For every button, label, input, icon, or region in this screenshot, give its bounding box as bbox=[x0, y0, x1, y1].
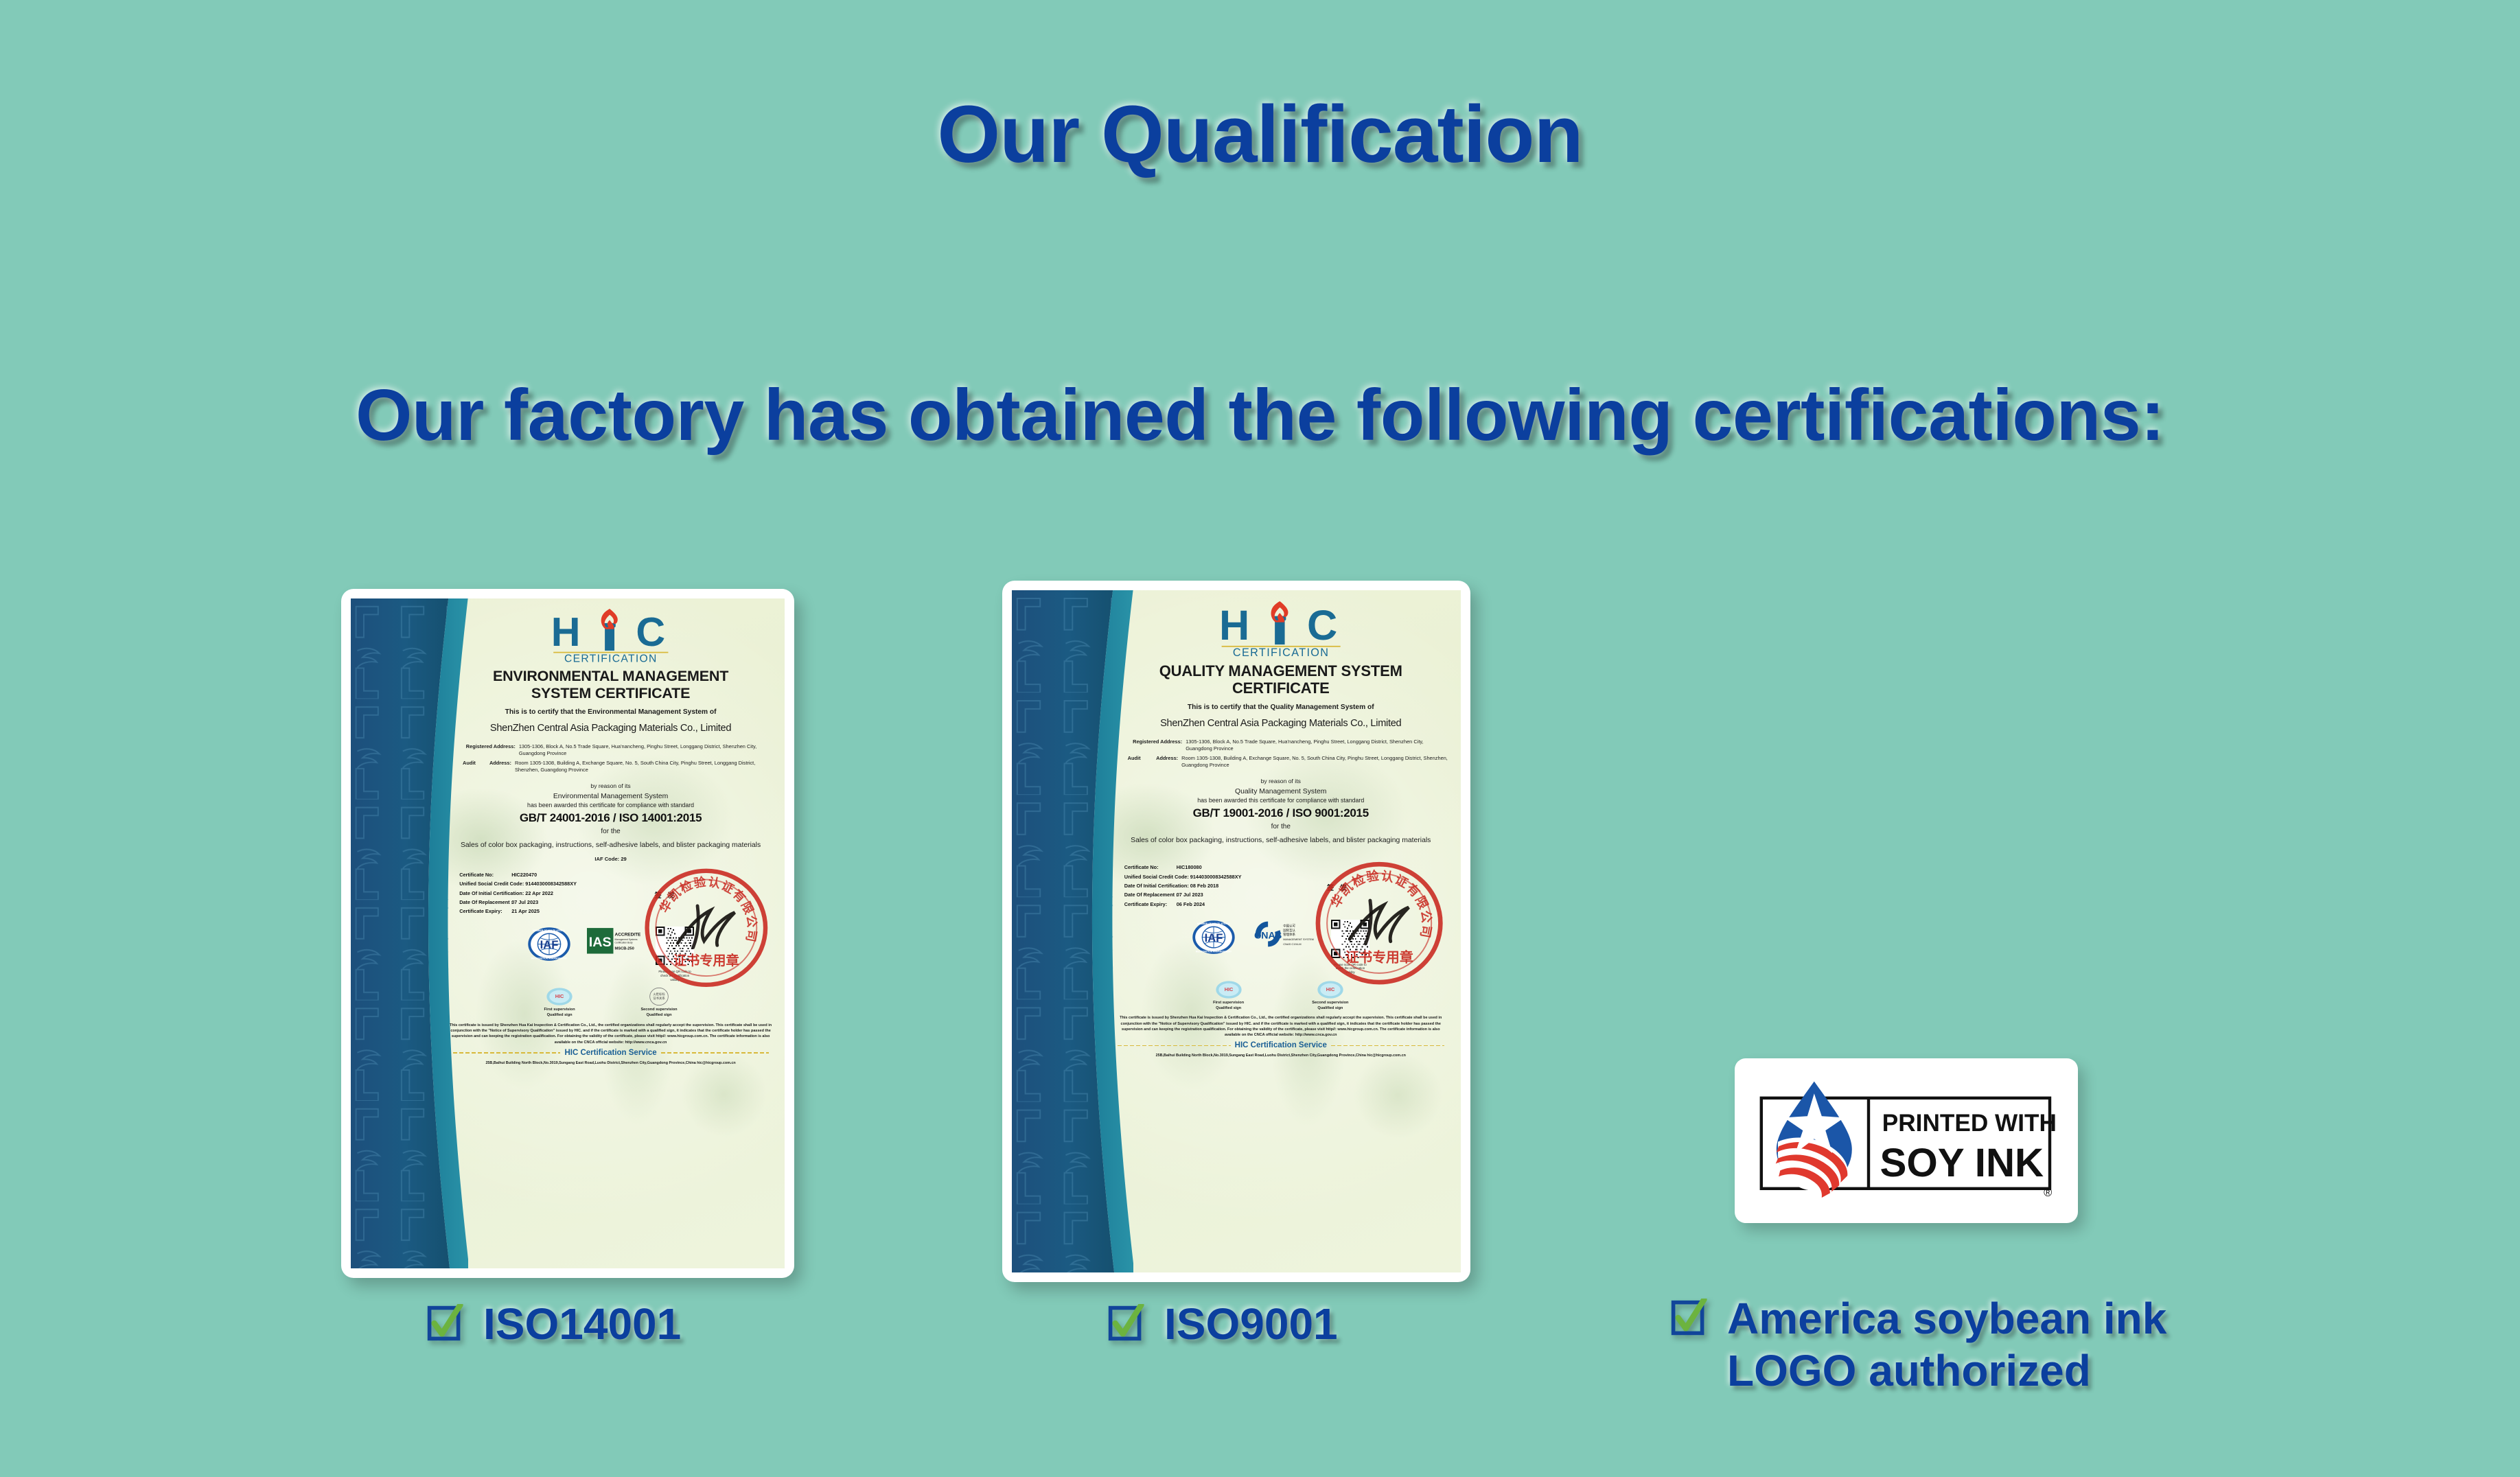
first-supervision-seal-icon: HIC bbox=[1215, 980, 1242, 999]
svg-text:CERTIFICATION: CERTIFICATION bbox=[564, 653, 658, 664]
svg-text:HIC: HIC bbox=[555, 993, 564, 999]
audit-address-row: Audit Address: Room 1305-1308, Building … bbox=[1128, 755, 1451, 769]
divider-left bbox=[453, 1052, 561, 1054]
supervision-caption: Second supervision Qualified sign bbox=[1312, 1001, 1348, 1012]
scope-text: Sales of color box packaging, instructio… bbox=[1111, 836, 1451, 846]
hic-logo-icon: H C CERTIFICATION bbox=[545, 598, 677, 664]
svg-text:HIC: HIC bbox=[1224, 986, 1233, 992]
detail-value: 9144030008342588XY bbox=[525, 879, 577, 888]
certificate-content: H C CERTIFICATION QUALITY MANAGEMENT SYS… bbox=[1111, 590, 1451, 1058]
by-reason-line: by reason of its bbox=[1111, 778, 1451, 784]
checkbox-checked-icon bbox=[426, 1304, 464, 1342]
certify-line: This is to certify that the Quality Mana… bbox=[1111, 703, 1451, 711]
detail-value: 07 Jul 2023 bbox=[1177, 890, 1203, 899]
official-seal-icon: 华 凯 检 验 认 证 有 限 公 司 证书专用章 bbox=[1311, 855, 1447, 991]
certify-line: This is to certify that the Environmenta… bbox=[446, 708, 775, 716]
ias-logo-icon: IAS ACCREDITED Management Systems Certif… bbox=[587, 927, 640, 955]
svg-text:CNAS: CNAS bbox=[1254, 930, 1282, 941]
standard-code: GB/T 19001-2016 / ISO 9001:2015 bbox=[1111, 806, 1451, 820]
svg-text:验: 验 bbox=[693, 875, 707, 891]
svg-text:MSCB-250: MSCB-250 bbox=[614, 947, 634, 951]
scope-text: Sales of color box packaging, instructio… bbox=[446, 841, 775, 850]
divider-right bbox=[1331, 1045, 1444, 1047]
certificate-details: Certificate No: HIC180080 Unified Social… bbox=[1111, 863, 1451, 908]
hic-service-banner: HIC Certification Service bbox=[446, 1049, 775, 1057]
detail-value: 06 Feb 2024 bbox=[1177, 900, 1205, 909]
certificate-paper: H C CERTIFICATION ENVIRONMENTAL MANAGEME… bbox=[351, 598, 785, 1268]
caption-label: ISO14001 bbox=[483, 1299, 681, 1351]
audit-label: Audit bbox=[463, 760, 480, 774]
svg-text:公: 公 bbox=[743, 915, 758, 929]
for-the-line: for the bbox=[446, 828, 775, 835]
iaf-code: IAF Code: 29 bbox=[446, 856, 775, 862]
detail-label: Unified Social Credit Code: bbox=[459, 879, 524, 888]
svg-text:RECOGNITION ARRANGEMENT: RECOGNITION ARRANGEMENT bbox=[531, 957, 568, 960]
svg-text:证书关系: 证书关系 bbox=[653, 996, 665, 1001]
audit-address-label: Address: bbox=[1145, 755, 1178, 769]
registered-address-row: Registered Address: 1305-1306, Block A, … bbox=[463, 743, 775, 757]
hic-service-label: HIC Certification Service bbox=[564, 1049, 656, 1057]
svg-text:Certification Body: Certification Body bbox=[614, 942, 632, 944]
address-block: Registered Address: 1305-1306, Block A, … bbox=[1111, 738, 1451, 769]
audit-address-value: Room 1305-1308, Building A, Exchange Squ… bbox=[1178, 755, 1450, 769]
certificate-content: H C CERTIFICATION ENVIRONMENTAL MANAGEME… bbox=[446, 598, 775, 1065]
audit-address-row: Audit Address: Room 1305-1308, Building … bbox=[463, 760, 775, 774]
caption-soy-ink: America soybean ink LOGO authorized bbox=[1669, 1293, 2166, 1397]
svg-text:H: H bbox=[551, 609, 580, 655]
caption-label: America soybean ink LOGO authorized bbox=[1727, 1293, 2166, 1397]
standard-code: GB/T 24001-2016 / ISO 14001:2015 bbox=[446, 811, 775, 825]
svg-text:CNAS C194-M: CNAS C194-M bbox=[1283, 942, 1301, 946]
detail-value: 21 Apr 2025 bbox=[511, 907, 540, 916]
svg-text:验: 验 bbox=[1365, 868, 1380, 884]
svg-text:MEMBER OF MULTILATERAL: MEMBER OF MULTILATERAL bbox=[533, 929, 566, 932]
supervision-stamp: HIC First supervision Qualified sign bbox=[1213, 980, 1244, 1012]
printed-with-soy-ink-logo-icon: PRINTED WITH SOY INK ® bbox=[1755, 1077, 2057, 1205]
detail-label: Unified Social Credit Code: bbox=[1124, 872, 1189, 881]
detail-label: Certificate No: bbox=[1124, 863, 1175, 872]
svg-text:RECOGNITION ARRANGEMENT: RECOGNITION ARRANGEMENT bbox=[1196, 950, 1232, 953]
checkbox-checked-icon bbox=[1669, 1299, 1708, 1337]
page-title: Our Qualification bbox=[0, 88, 2520, 181]
certificate-heading: ENVIRONMENTAL MANAGEMENT SYSTEM CERTIFIC… bbox=[446, 668, 775, 702]
certificate-card-iso14001[interactable]: H C CERTIFICATION ENVIRONMENTAL MANAGEME… bbox=[341, 589, 794, 1278]
svg-text:IAF: IAF bbox=[540, 938, 559, 951]
checkbox-checked-icon bbox=[1107, 1304, 1145, 1342]
hic-service-label: HIC Certification Service bbox=[1235, 1041, 1327, 1049]
certificate-paper: H C CERTIFICATION QUALITY MANAGEMENT SYS… bbox=[1012, 590, 1461, 1272]
system-name: Quality Management System bbox=[1111, 788, 1451, 795]
divider-right bbox=[661, 1052, 769, 1054]
certificate-footer-address: 25B,Baihui Building North Block,No.3019,… bbox=[1111, 1054, 1451, 1058]
audit-address-value: Room 1305-1308, Building A, Exchange Squ… bbox=[511, 760, 775, 774]
registered-address-value: 1305-1306, Block A, No.5 Trade Square, H… bbox=[516, 743, 775, 757]
registered-address-label: Registered Address: bbox=[463, 743, 516, 757]
supervision-stamp: HIC First supervision Qualified sign bbox=[544, 987, 575, 1019]
detail-label: Certificate Expiry: bbox=[1124, 900, 1175, 909]
detail-label: Date Of Initial Certification: bbox=[459, 889, 524, 898]
page-subtitle: Our factory has obtained the following c… bbox=[0, 374, 2520, 457]
detail-value: 07 Jul 2023 bbox=[511, 898, 538, 907]
detail-label: Date Of Replacement : bbox=[1124, 890, 1175, 899]
detail-label: Date Of Replacement : bbox=[459, 898, 510, 907]
detail-value: HIC180080 bbox=[1177, 863, 1202, 872]
certificate-footer-address: 25B,Baihui Building North Block,No.3019,… bbox=[446, 1061, 775, 1065]
system-name: Environmental Management System bbox=[446, 793, 775, 800]
hic-service-banner: HIC Certification Service bbox=[1111, 1041, 1451, 1049]
detail-value: 9144030008342588XY bbox=[1190, 872, 1242, 881]
detail-label: Date Of Initial Certification: bbox=[1124, 881, 1189, 890]
company-name: ShenZhen Central Asia Packaging Material… bbox=[1111, 718, 1451, 729]
iaf-logo-icon: IAF MEMBER OF MULTILATERAL RECOGNITION A… bbox=[1192, 920, 1236, 955]
cnas-logo-icon: CNAS 中国认可 国际互认 管理体系 MANAGEMENT SYSTEM CN… bbox=[1252, 920, 1315, 949]
svg-text:证书专用章: 证书专用章 bbox=[673, 953, 739, 968]
supervision-caption: First supervision Qualified sign bbox=[544, 1008, 575, 1019]
certificate-heading: QUALITY MANAGEMENT SYSTEM CERTIFICATE bbox=[1111, 662, 1451, 697]
registered-address-value: 1305-1306, Block A, No.5 Trade Square, H… bbox=[1182, 738, 1450, 752]
cnas-cn-line-1: 中国认可 bbox=[1283, 923, 1295, 928]
svg-text:C: C bbox=[1307, 602, 1337, 649]
for-the-line: for the bbox=[1111, 823, 1451, 830]
svg-text:C: C bbox=[636, 609, 665, 655]
hic-logo-icon: H C CERTIFICATION bbox=[1213, 590, 1349, 658]
certificate-details: Certificate No: HIC220470 Unified Social… bbox=[446, 870, 775, 916]
detail-value: HIC220470 bbox=[511, 870, 537, 879]
svg-text:IAF: IAF bbox=[1205, 931, 1223, 944]
detail-value: 22 Apr 2022 bbox=[525, 889, 553, 898]
detail-label: Certificate Expiry: bbox=[459, 907, 510, 916]
svg-text:Management Systems: Management Systems bbox=[614, 938, 637, 941]
detail-label: Certificate No: bbox=[459, 870, 510, 879]
certificate-card-iso9001[interactable]: H C CERTIFICATION QUALITY MANAGEMENT SYS… bbox=[1002, 581, 1470, 1282]
cnas-cn-line-2: 国际互认 bbox=[1283, 928, 1295, 933]
registered-address-row: Registered Address: 1305-1306, Block A, … bbox=[1128, 738, 1451, 752]
divider-left bbox=[1118, 1045, 1231, 1047]
audit-address-label: Address: bbox=[480, 760, 511, 774]
svg-text:IAS: IAS bbox=[588, 935, 611, 950]
ias-accredited-label: ACCREDITED bbox=[614, 933, 640, 938]
svg-text:MANAGEMENT SYSTEM: MANAGEMENT SYSTEM bbox=[1283, 938, 1314, 941]
awarded-line: has been awarded this certificate for co… bbox=[1111, 797, 1451, 804]
caption-label: ISO9001 bbox=[1164, 1299, 1338, 1351]
cnas-cn-line-3: 管理体系 bbox=[1283, 932, 1295, 937]
qualification-slide: Our Qualification Our factory has obtain… bbox=[0, 0, 2520, 1477]
caption-iso14001: ISO14001 bbox=[426, 1299, 681, 1351]
iaf-logo-icon: IAF MEMBER OF MULTILATERAL RECOGNITION A… bbox=[527, 927, 571, 962]
detail-value: 08 Feb 2018 bbox=[1190, 881, 1218, 890]
svg-text:MEMBER OF MULTILATERAL: MEMBER OF MULTILATERAL bbox=[1197, 922, 1230, 925]
company-name: ShenZhen Central Asia Packaging Material… bbox=[446, 723, 775, 734]
printed-with-label: PRINTED WITH bbox=[1882, 1110, 2057, 1137]
supervision-caption: First supervision Qualified sign bbox=[1213, 1001, 1244, 1012]
svg-text:CERTIFICATION: CERTIFICATION bbox=[1233, 647, 1329, 658]
svg-text:H: H bbox=[1219, 602, 1249, 649]
official-seal-icon: 华 凯 检 验 认 证 有 限 公 司 证书专用章 bbox=[640, 862, 772, 994]
svg-text:司: 司 bbox=[1418, 924, 1434, 939]
fine-print: This certificate is issued by Shenzhen H… bbox=[1111, 1015, 1451, 1038]
svg-text:证书专用章: 证书专用章 bbox=[1345, 949, 1413, 965]
by-reason-line: by reason of its bbox=[446, 782, 775, 789]
svg-text:司: 司 bbox=[743, 929, 759, 943]
svg-text:公: 公 bbox=[1418, 909, 1433, 924]
registered-address-label: Registered Address: bbox=[1128, 738, 1183, 752]
soy-ink-logo-card[interactable]: PRINTED WITH SOY INK ® bbox=[1735, 1058, 2078, 1223]
supervision-caption: Second supervision Qualified sign bbox=[640, 1008, 677, 1019]
first-supervision-seal-icon: HIC bbox=[546, 987, 573, 1006]
awarded-line: has been awarded this certificate for co… bbox=[446, 802, 775, 809]
address-block: Registered Address: 1305-1306, Block A, … bbox=[446, 743, 775, 774]
soy-ink-label: SOY INK bbox=[1880, 1141, 2044, 1185]
audit-label: Audit bbox=[1128, 755, 1146, 769]
registered-mark: ® bbox=[2044, 1186, 2052, 1198]
fine-print: This certificate is issued by Shenzhen H… bbox=[446, 1023, 775, 1045]
caption-iso9001: ISO9001 bbox=[1107, 1299, 1338, 1351]
